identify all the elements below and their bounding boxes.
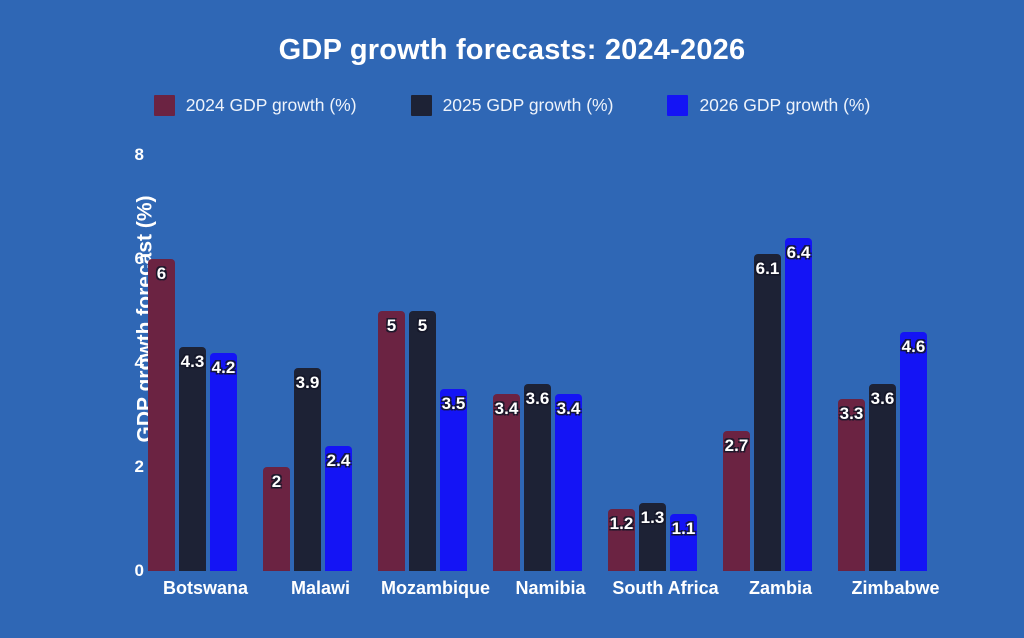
bar-wrap: 3.6 [524, 155, 551, 571]
bar-group-zimbabwe: 3.33.64.6 [838, 155, 953, 571]
y-axis-tick-8: 8 [135, 145, 144, 165]
x-axis-category-labels: BotswanaMalawiMozambiqueNamibiaSouth Afr… [148, 578, 1008, 599]
bar[interactable] [639, 503, 666, 571]
bar[interactable] [869, 384, 896, 571]
bar-wrap: 3.4 [555, 155, 582, 571]
bar-group-zambia: 2.76.16.4 [723, 155, 838, 571]
legend-label-2024: 2024 GDP growth (%) [186, 95, 357, 116]
legend-item-2024[interactable]: 2024 GDP growth (%) [154, 95, 357, 116]
bar-wrap: 4.3 [179, 155, 206, 571]
bar[interactable] [555, 394, 582, 571]
x-axis-label-zambia: Zambia [723, 578, 838, 599]
bar-wrap: 4.2 [210, 155, 237, 571]
legend-swatch-2026 [667, 95, 688, 116]
bar-group-south-africa: 1.21.31.1 [608, 155, 723, 571]
bar[interactable] [723, 431, 750, 571]
bar-wrap: 5 [409, 155, 436, 571]
plot-area: 64.34.223.92.4553.53.43.63.41.21.31.12.7… [148, 155, 1008, 571]
bar-wrap: 3.5 [440, 155, 467, 571]
bar-wrap: 3.6 [869, 155, 896, 571]
bar[interactable] [210, 353, 237, 571]
bar[interactable] [524, 384, 551, 571]
bar[interactable] [608, 509, 635, 571]
bar-wrap: 3.9 [294, 155, 321, 571]
x-axis-label-namibia: Namibia [493, 578, 608, 599]
legend-swatch-2024 [154, 95, 175, 116]
bar-wrap: 3.4 [493, 155, 520, 571]
bar-wrap: 3.3 [838, 155, 865, 571]
bar[interactable] [263, 467, 290, 571]
bar[interactable] [493, 394, 520, 571]
legend-swatch-2025 [411, 95, 432, 116]
bar-wrap: 4.6 [900, 155, 927, 571]
x-axis-label-botswana: Botswana [148, 578, 263, 599]
bar-group-malawi: 23.92.4 [263, 155, 378, 571]
bar[interactable] [325, 446, 352, 571]
bar-chart-gdp-growth-forecasts: GDP growth forecasts: 2024-2026 2024 GDP… [0, 0, 1024, 638]
bar[interactable] [179, 347, 206, 571]
bar-group-botswana: 64.34.2 [148, 155, 263, 571]
x-axis-label-malawi: Malawi [263, 578, 378, 599]
x-axis-label-mozambique: Mozambique [378, 578, 493, 599]
bar-wrap: 6.4 [785, 155, 812, 571]
bar-wrap: 2.4 [325, 155, 352, 571]
bar[interactable] [378, 311, 405, 571]
bar[interactable] [838, 399, 865, 571]
x-axis-label-zimbabwe: Zimbabwe [838, 578, 953, 599]
bar[interactable] [409, 311, 436, 571]
bar-wrap: 6 [148, 155, 175, 571]
bar-wrap: 2 [263, 155, 290, 571]
bar-wrap: 1.2 [608, 155, 635, 571]
chart-legend: 2024 GDP growth (%) 2025 GDP growth (%) … [0, 95, 1024, 116]
bar[interactable] [294, 368, 321, 571]
legend-item-2026[interactable]: 2026 GDP growth (%) [667, 95, 870, 116]
legend-label-2025: 2025 GDP growth (%) [443, 95, 614, 116]
chart-title: GDP growth forecasts: 2024-2026 [0, 34, 1024, 67]
legend-label-2026: 2026 GDP growth (%) [699, 95, 870, 116]
bar[interactable] [148, 259, 175, 571]
y-axis-tick-6: 6 [135, 249, 144, 269]
bar[interactable] [440, 389, 467, 571]
x-axis-label-south-africa: South Africa [608, 578, 723, 599]
bar[interactable] [670, 514, 697, 571]
y-axis-tick-2: 2 [135, 457, 144, 477]
bar-wrap: 5 [378, 155, 405, 571]
bar-wrap: 6.1 [754, 155, 781, 571]
bar-group-mozambique: 553.5 [378, 155, 493, 571]
y-axis-tick-0: 0 [135, 561, 144, 581]
bar[interactable] [754, 254, 781, 571]
bar-wrap: 2.7 [723, 155, 750, 571]
bar[interactable] [900, 332, 927, 571]
legend-item-2025[interactable]: 2025 GDP growth (%) [411, 95, 614, 116]
bar-group-namibia: 3.43.63.4 [493, 155, 608, 571]
y-axis-tick-labels: 02468 [118, 155, 144, 571]
bar-wrap: 1.3 [639, 155, 666, 571]
bar[interactable] [785, 238, 812, 571]
bar-groups: 64.34.223.92.4553.53.43.63.41.21.31.12.7… [148, 155, 1008, 571]
y-axis-tick-4: 4 [135, 353, 144, 373]
bar-wrap: 1.1 [670, 155, 697, 571]
